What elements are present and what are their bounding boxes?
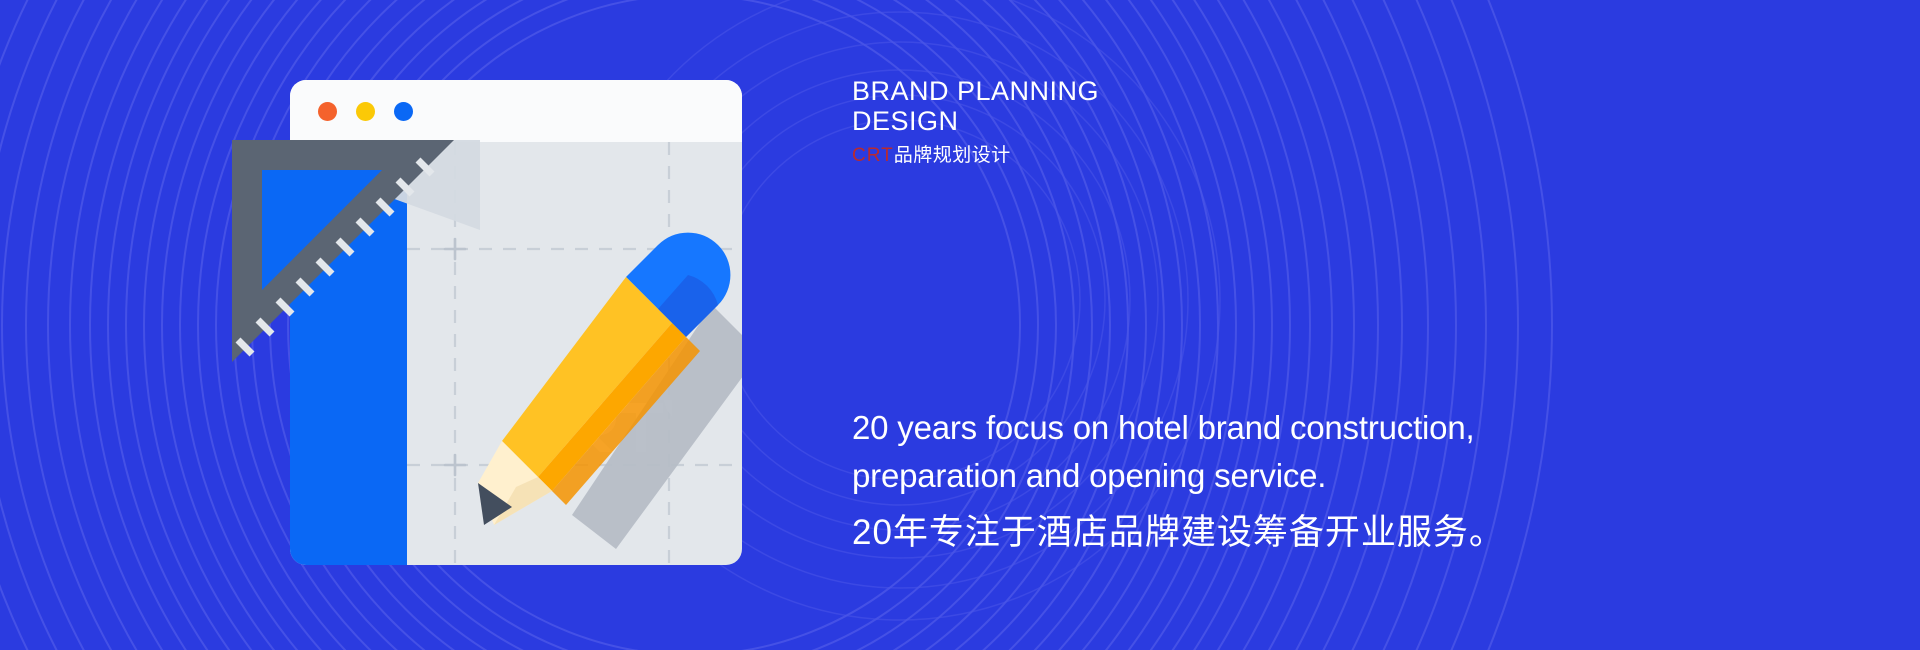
eyebrow-chinese-subtitle: CRT品牌规划设计 [852,144,1492,168]
eyebrow-line-2: DESIGN [852,106,1492,136]
window-dot-blue-icon [394,102,413,121]
triangle-ruler-icon [222,130,492,390]
headline-english-line-1: 20 years focus on hotel brand constructi… [852,404,1852,452]
window-dot-yellow-icon [356,102,375,121]
brand-banner: BRAND PLANNING DESIGN CRT品牌规划设计 20 years… [0,0,1920,650]
headline-english-line-2: preparation and opening service. [852,452,1852,500]
headline-text-block: 20 years focus on hotel brand constructi… [852,404,1852,556]
eyebrow-brand-crt: CRT [852,145,894,166]
pencil-icon [472,225,742,565]
eyebrow-text-block: BRAND PLANNING DESIGN CRT品牌规划设计 [852,76,1492,168]
brand-design-illustration [222,80,742,565]
window-dot-red-icon [318,102,337,121]
headline-chinese-line: 20年专注于酒店品牌建设筹备开业服务。 [852,510,1852,556]
eyebrow-line-1: BRAND PLANNING [852,76,1492,106]
eyebrow-chinese-text: 品牌规划设计 [894,145,1011,166]
